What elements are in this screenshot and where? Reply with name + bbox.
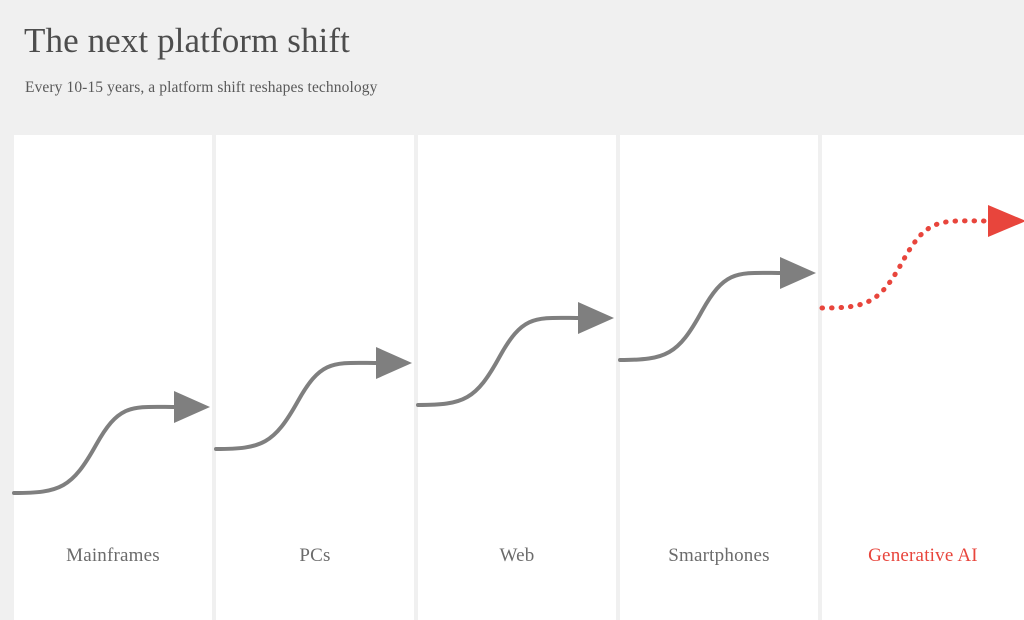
era-panel-web[interactable]: Web [418,135,616,620]
era-label-mainframes: Mainframes [14,544,212,568]
header-band: The next platform shift Every 10-15 year… [0,0,1024,135]
page-subtitle: Every 10-15 years, a platform shift resh… [25,78,1024,98]
era-label-generative-ai: Generative AI [822,544,1024,568]
era-panel-mainframes[interactable]: Mainframes [14,135,212,620]
era-label-web: Web [418,544,616,568]
era-panel-generative-ai[interactable]: Generative AI [822,135,1024,620]
era-label-pcs: PCs [216,544,414,568]
era-panel-smartphones[interactable]: Smartphones [620,135,818,620]
timeline-stage: Mainframes PCs Web Smartphones Generativ… [0,135,1024,620]
era-panel-pcs[interactable]: PCs [216,135,414,620]
era-label-smartphones: Smartphones [620,544,818,568]
page-title: The next platform shift [24,20,1024,62]
